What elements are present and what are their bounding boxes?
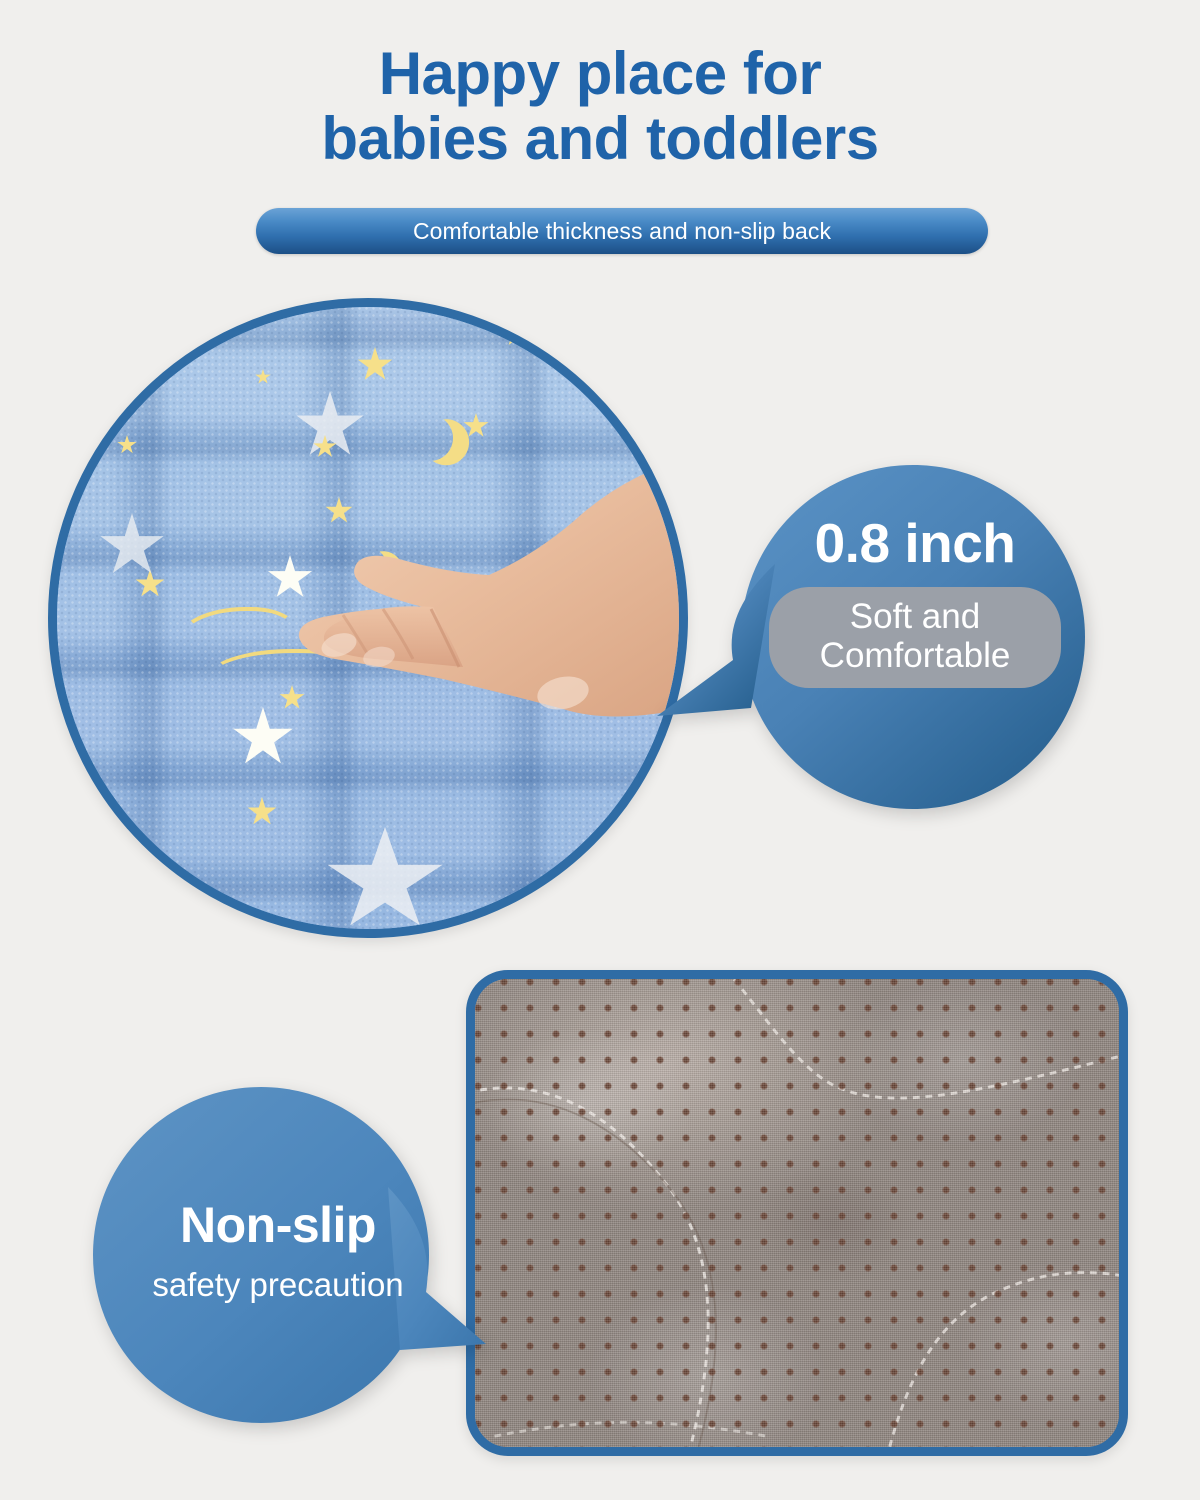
callout-nonslip: Non-slip safety precaution bbox=[88, 1082, 488, 1432]
header: Happy place for babies and toddlers bbox=[0, 0, 1200, 172]
subtitle-pill: Comfortable thickness and non-slip back bbox=[256, 208, 988, 254]
subtitle-text: Comfortable thickness and non-slip back bbox=[413, 218, 831, 245]
callout-nonslip-subtitle: safety precaution bbox=[98, 1268, 458, 1303]
product-photo-quilt-top bbox=[48, 298, 688, 938]
quilt-waffle-texture bbox=[48, 298, 688, 938]
callout-thickness-badge-line1: Soft and bbox=[769, 597, 1061, 636]
callout-thickness-badge-line2: Comfortable bbox=[769, 636, 1061, 675]
callout-nonslip-title: Non-slip bbox=[98, 1200, 458, 1250]
callout-thickness-title: 0.8 inch bbox=[745, 516, 1085, 571]
callout-thickness: 0.8 inch Soft and Comfortable bbox=[655, 446, 1095, 826]
callout-thickness-badge: Soft and Comfortable bbox=[769, 587, 1061, 688]
callout-thickness-text: 0.8 inch Soft and Comfortable bbox=[745, 516, 1085, 688]
grip-weave-texture bbox=[475, 979, 1119, 1447]
product-photo-nonslip-backing bbox=[466, 970, 1128, 1456]
page-title: Happy place for babies and toddlers bbox=[0, 42, 1200, 172]
callout-nonslip-text: Non-slip safety precaution bbox=[98, 1200, 458, 1303]
